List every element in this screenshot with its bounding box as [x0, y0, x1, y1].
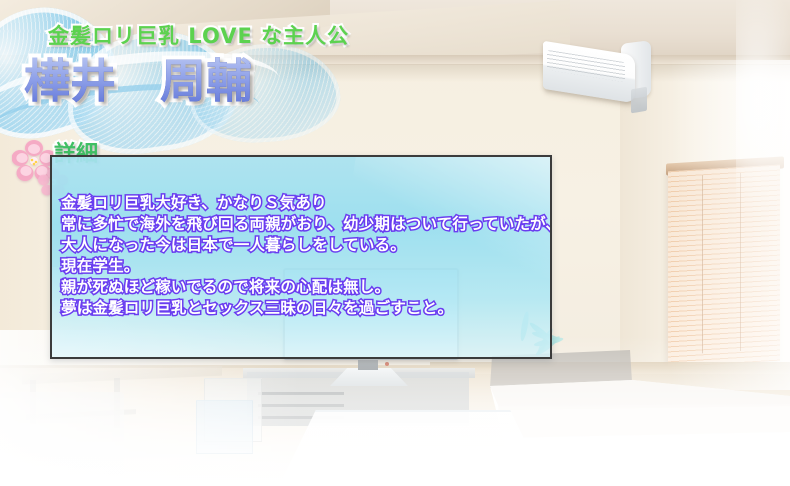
- blind-cord: [702, 175, 703, 353]
- detail-text-panel: 金髪ロリ巨乳大好き、かなりＳ気あり 常に多忙で海外を飛び回る両親がおり、幼少期は…: [50, 155, 552, 359]
- detail-line: 夢は金髪ロリ巨乳とセックス三昧の日々を過ごすこと。: [61, 298, 550, 319]
- storage-box: [196, 400, 253, 454]
- character-profile-screen: 金髪ロリ巨乳 LOVE な主人公 樺井 樺井 周輔 周輔: [0, 0, 790, 486]
- detail-text-body: 金髪ロリ巨乳大好き、かなりＳ気あり 常に多忙で海外を飛び回る両親がおり、幼少期は…: [52, 157, 550, 319]
- blind-cord: [740, 173, 741, 351]
- air-conditioner: [543, 42, 651, 104]
- character-family-name-text: 樺井: [24, 54, 116, 108]
- chair: [0, 392, 124, 486]
- air-conditioner-pipe: [631, 87, 647, 114]
- tv-power-led: [385, 362, 389, 366]
- detail-line: 常に多忙で海外を飛び回る両親がおり、幼少期はついて行っていたが、: [61, 214, 550, 235]
- detail-line: 大人になった今は日本で一人暮らしをしている。: [61, 235, 550, 256]
- character-tagline: 金髪ロリ巨乳 LOVE な主人公: [48, 20, 349, 50]
- tv-stand-shelf: [258, 392, 344, 395]
- character-name: 樺井 樺井 周輔 周輔: [24, 58, 252, 104]
- character-given-name: 周輔 周輔: [160, 58, 252, 104]
- character-family-name: 樺井 樺井: [24, 58, 116, 104]
- window-blind: [668, 165, 780, 368]
- low-table: [278, 410, 548, 486]
- detail-line: 現在学生。: [61, 256, 550, 277]
- blind-slats: [668, 165, 780, 368]
- character-given-name-text: 周輔: [160, 54, 252, 108]
- detail-line: 親が死ぬほど稼いでるので将来の心配は無し。: [61, 277, 550, 298]
- detail-line: 金髪ロリ巨乳大好き、かなりＳ気あり: [61, 193, 550, 214]
- tv-stand-shelf: [258, 404, 344, 407]
